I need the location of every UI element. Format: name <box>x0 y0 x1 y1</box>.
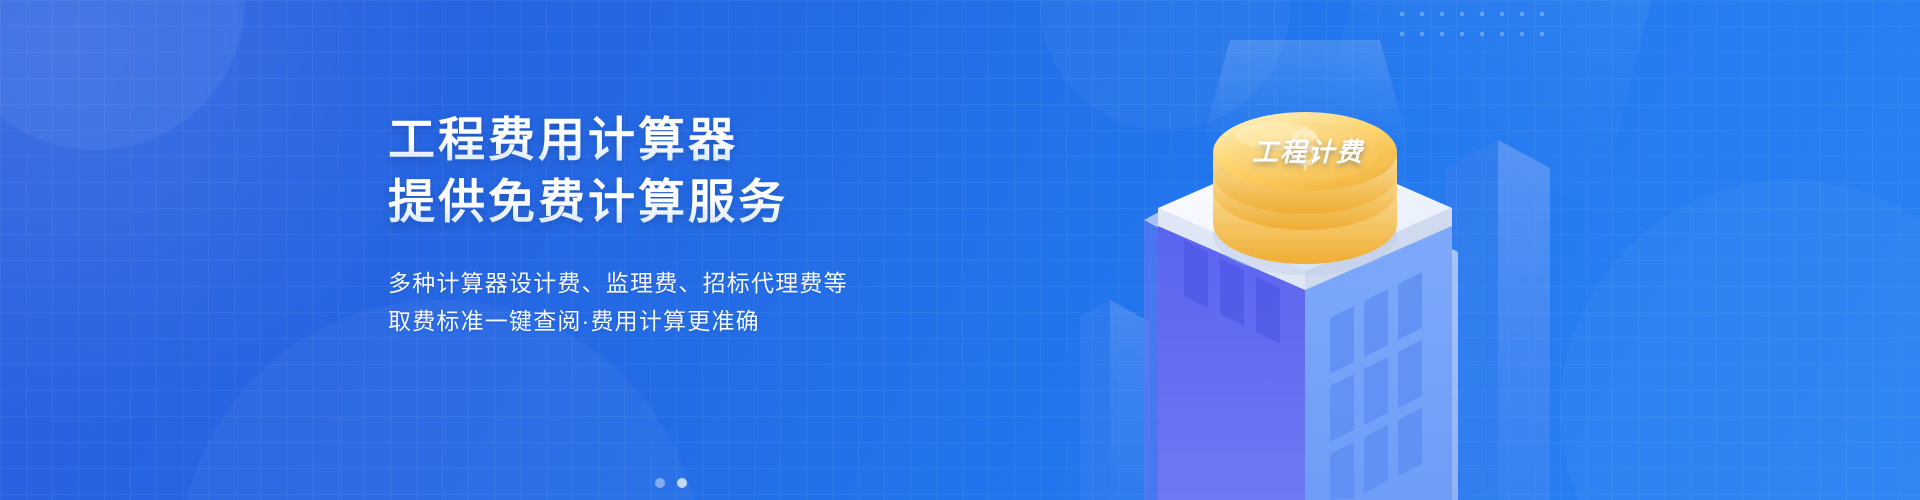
description-line-1: 多种计算器设计费、监理费、招标代理费等 <box>388 264 948 302</box>
headline-line-1: 工程费用计算器 <box>388 112 948 168</box>
description-line-2: 取费标准一键查阅·费用计算更准确 <box>388 302 948 340</box>
banner-description: 多种计算器设计费、监理费、招标代理费等 取费标准一键查阅·费用计算更准确 <box>388 264 948 340</box>
decorative-circle-top-left <box>0 0 245 150</box>
banner-copy: 工程费用计算器 提供免费计算服务 多种计算器设计费、监理费、招标代理费等 取费标… <box>388 112 948 340</box>
illustration-svg: $ <box>1080 0 1640 500</box>
carousel-dot-2[interactable] <box>677 478 687 488</box>
carousel-indicators[interactable] <box>655 478 687 488</box>
carousel-dot-1[interactable] <box>655 478 665 488</box>
hero-banner: 工程费用计算器 提供免费计算服务 多种计算器设计费、监理费、招标代理费等 取费标… <box>0 0 1920 500</box>
illustration: $ 工程计费 <box>1080 0 1640 500</box>
illustration-label: 工程计费 <box>1252 132 1364 169</box>
headline-line-2: 提供免费计算服务 <box>388 174 948 230</box>
